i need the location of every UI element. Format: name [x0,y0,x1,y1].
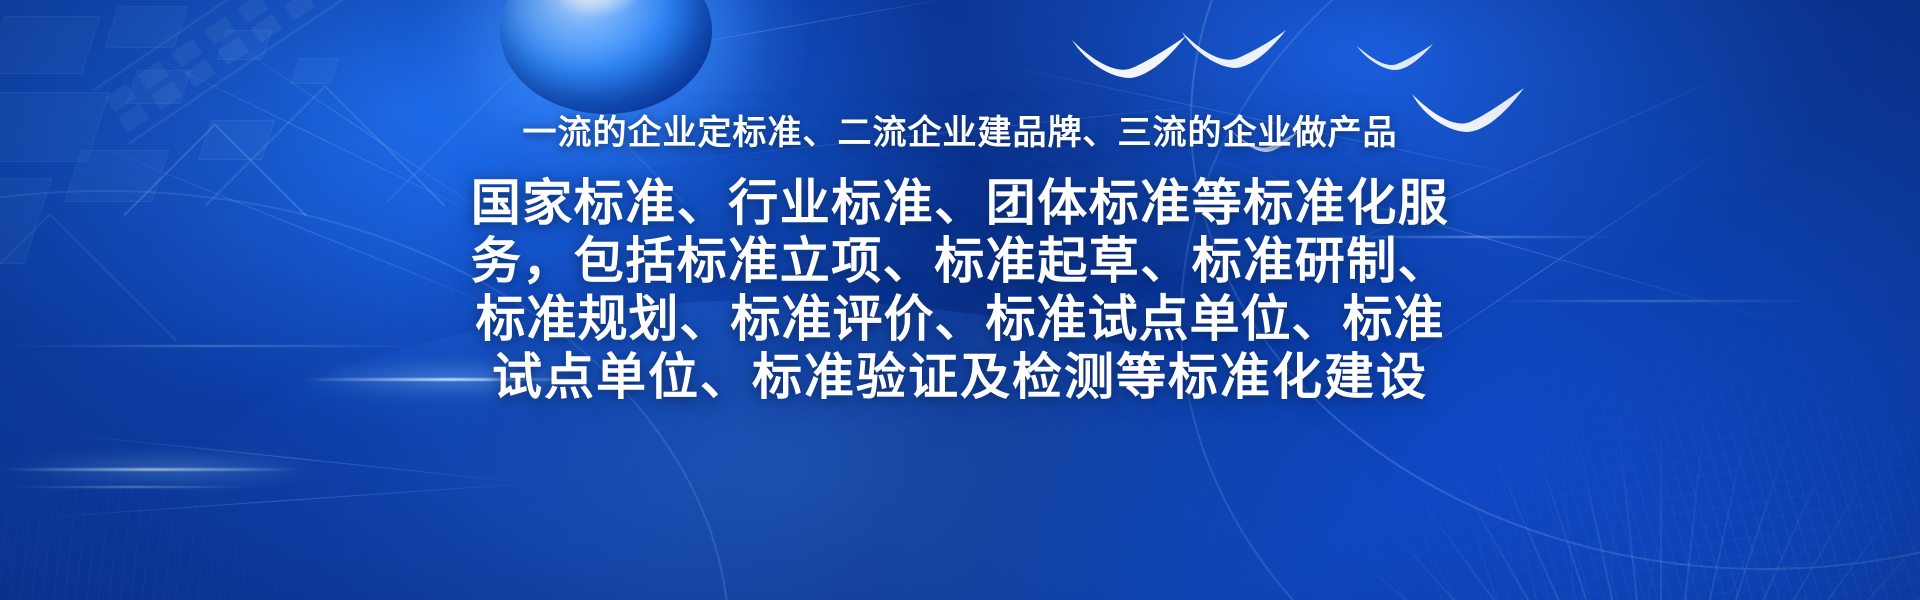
banner-body-line-2: 务，包括标准立项、标准起草、标准研制、 [443,232,1478,290]
banner-body-line-3: 标准规划、标准评价、标准试点单位、标准 [443,290,1478,348]
banner-headline: 一流的企业定标准、二流企业建品牌、三流的企业做产品 [523,116,1398,150]
banner-body-line-1: 国家标准、行业标准、团体标准等标准化服 [443,174,1478,232]
banner-hero: 一流的企业定标准、二流企业建品牌、三流的企业做产品 国家标准、行业标准、团体标准… [0,0,1920,600]
banner-copy: 一流的企业定标准、二流企业建品牌、三流的企业做产品 国家标准、行业标准、团体标准… [0,0,1920,600]
banner-body: 国家标准、行业标准、团体标准等标准化服 务，包括标准立项、标准起草、标准研制、 … [443,174,1478,406]
banner-body-line-4: 试点单位、标准验证及检测等标准化建设 [443,348,1478,406]
